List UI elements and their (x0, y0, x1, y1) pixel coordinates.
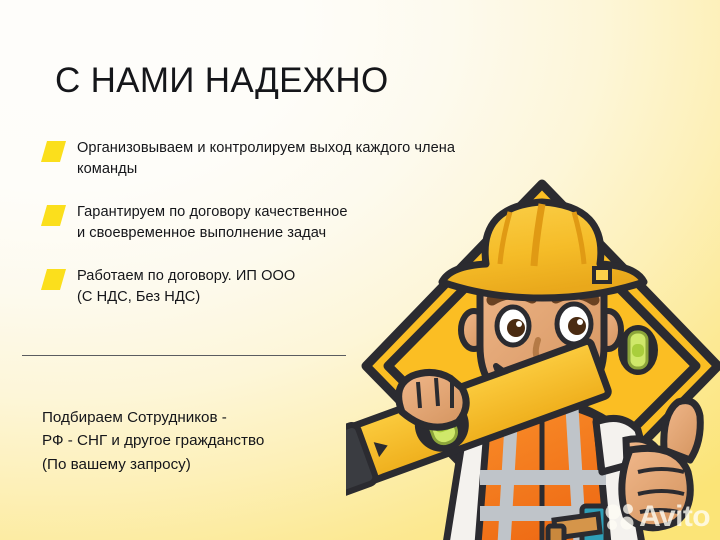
footnote-line: Подбираем Сотрудников - (42, 406, 264, 429)
spirit-level-tool (346, 338, 610, 500)
yellow-parallelogram-bullet-icon (41, 141, 66, 162)
avito-watermark: Avito (605, 502, 710, 532)
footnote-line: РФ - СНГ и другое гражданство (42, 429, 264, 452)
list-item: Организовываем и контролируем выход кажд… (44, 138, 584, 180)
avito-watermark-text: Avito (639, 502, 710, 532)
yellow-parallelogram-bullet-icon (41, 205, 66, 226)
list-item-text: Гарантируем по договору качественное и с… (77, 202, 348, 244)
yellow-parallelogram-bullet-icon (41, 269, 66, 290)
avito-dots-logo-icon (605, 503, 635, 531)
list-item-line: и своевременное выполнение задач (77, 223, 348, 244)
footnote-line: (По вашему запросу) (42, 453, 264, 476)
list-item-line: Организовываем и контролируем выход кажд… (77, 138, 455, 159)
worker-left-hand (399, 372, 467, 427)
page-title: С НАМИ НАДЕЖНО (55, 63, 389, 100)
list-item: Работаем по договору. ИП ООО (С НДС, Без… (44, 266, 584, 308)
list-item-line: Гарантируем по договору качественное (77, 202, 348, 223)
list-item-line: Работаем по договору. ИП ООО (77, 266, 295, 287)
list-item-line: (С НДС, Без НДС) (77, 287, 295, 308)
hammer-in-belt (548, 506, 606, 540)
list-item: Гарантируем по договору качественное и с… (44, 202, 584, 244)
list-item-text: Организовываем и контролируем выход кажд… (77, 138, 455, 180)
spirit-level-vial-secondary (618, 325, 658, 375)
list-item-line: команды (77, 159, 455, 180)
list-item-text: Работаем по договору. ИП ООО (С НДС, Без… (77, 266, 295, 308)
benefits-list: Организовываем и контролируем выход кажд… (44, 138, 584, 330)
horizontal-divider (22, 355, 346, 356)
footnote-text: Подбираем Сотрудников - РФ - СНГ и друго… (42, 406, 264, 476)
advertisement-banner: С НАМИ НАДЕЖНО Организовываем и контроли… (0, 0, 720, 540)
